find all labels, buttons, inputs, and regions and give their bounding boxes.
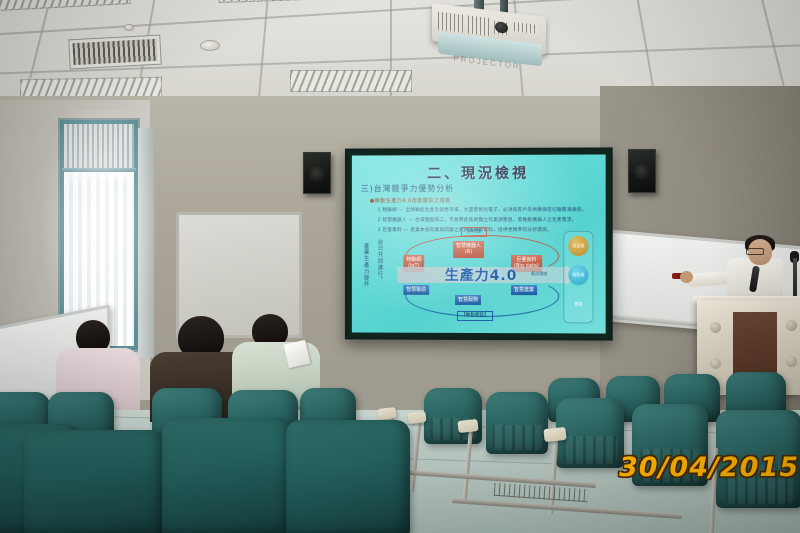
slide-diagram: 產業生產力提升 台日共同進行， 【內涵】 物聯網 (IoT) 智慧機器人 (R)… <box>360 229 598 326</box>
box-line-2: (R) <box>465 249 472 255</box>
box-line-1: 巨量資料 <box>516 257 536 263</box>
projection-screen: 二、現況檢視 三)台灣競爭力優勢分析 ●推動生產力4.0改善體質之措施 1.物聯… <box>345 147 613 340</box>
podium-knob <box>710 358 721 369</box>
sector-circle-agriculture: 農業 <box>568 294 588 314</box>
chair-ribs <box>492 425 542 450</box>
diagram-bottom-box-3: 智慧農業 <box>511 285 537 295</box>
box-line-1: 智慧機器人 <box>456 243 481 249</box>
diagram-center-title: 生產力4.0 <box>421 265 541 285</box>
presentation-slide: 二、現況檢視 三)台灣競爭力優勢分析 ●推動生產力4.0改善體質之措施 1.物聯… <box>352 154 606 333</box>
lecture-hall-photo: PROJECTOR 二、現況檢視 三)台灣競爭力優勢分析 ●推動生產力4.0改善… <box>0 0 800 533</box>
smoke-detector-icon <box>200 40 220 51</box>
speaker-cone-icon <box>634 163 650 181</box>
chair[interactable] <box>486 392 548 454</box>
podium-knob <box>786 356 797 367</box>
diagram-vertical-text-outer: 產業生產力提升 <box>362 243 370 288</box>
chair[interactable] <box>162 418 292 533</box>
chair[interactable] <box>556 398 624 468</box>
sector-circle-service: 服務業 <box>568 265 588 285</box>
chair[interactable] <box>424 388 482 444</box>
wall-speaker-left <box>303 152 331 194</box>
podium-knob <box>710 322 721 333</box>
slide-bullet-1: 1.物聯網 — 全球聯結生產及銷售市場，大量客製化電子，必須與客戶及供應端密切聯… <box>378 207 587 213</box>
diagram-bottom-label: 【推動重點】 <box>457 311 493 321</box>
diagram-sector-panel: 製造業 服務業 農業 <box>563 231 593 323</box>
air-vent <box>69 36 160 69</box>
diagram-top-box-2: 智慧機器人 (R) <box>453 241 484 258</box>
diagram-vertical-text-inner: 台日共同進行， <box>376 239 384 284</box>
window-blinds[interactable] <box>64 124 134 172</box>
slide-lead-bullet: ●推動生產力4.0改善體質之措施 <box>370 197 451 204</box>
diagram-band-note: 應用領域 <box>531 271 547 277</box>
chair-writing-tablet[interactable] <box>457 419 478 433</box>
chair[interactable] <box>24 430 164 533</box>
diagram-bottom-box-1: 智慧製造 <box>403 285 429 295</box>
chair[interactable] <box>286 420 410 533</box>
sector-circle-manufacturing: 製造業 <box>568 236 588 256</box>
presenter-hand <box>680 271 693 283</box>
slide-bullet-2: 2.智慧機器人 — 台灣面臨缺工，不易聘此技術獨立作業調整組，需推動機器人之生產… <box>378 217 577 223</box>
chair-ribs <box>563 436 617 464</box>
chair-writing-tablet[interactable] <box>407 411 426 424</box>
smoke-detector-icon <box>124 24 134 31</box>
wall-speaker-right <box>628 149 656 193</box>
diagram-bottom-box-2: 智慧服務 <box>455 295 481 305</box>
box-line-1: 物聯網 <box>406 257 421 263</box>
slide-title: 二、現況檢視 <box>352 163 606 184</box>
glasses-icon <box>746 248 764 255</box>
chair-writing-tablet[interactable] <box>377 407 396 420</box>
speaker-cone-icon <box>309 165 325 182</box>
chair-writing-tablet[interactable] <box>543 427 566 442</box>
podium-knob <box>786 320 797 331</box>
diagram-top-label: 【內涵】 <box>461 227 487 237</box>
ceiling-light-panel <box>290 70 412 92</box>
slide-subtitle: 三)台灣競爭力優勢分析 <box>361 183 454 194</box>
camera-timestamp: 30/04/2015 <box>619 452 799 483</box>
